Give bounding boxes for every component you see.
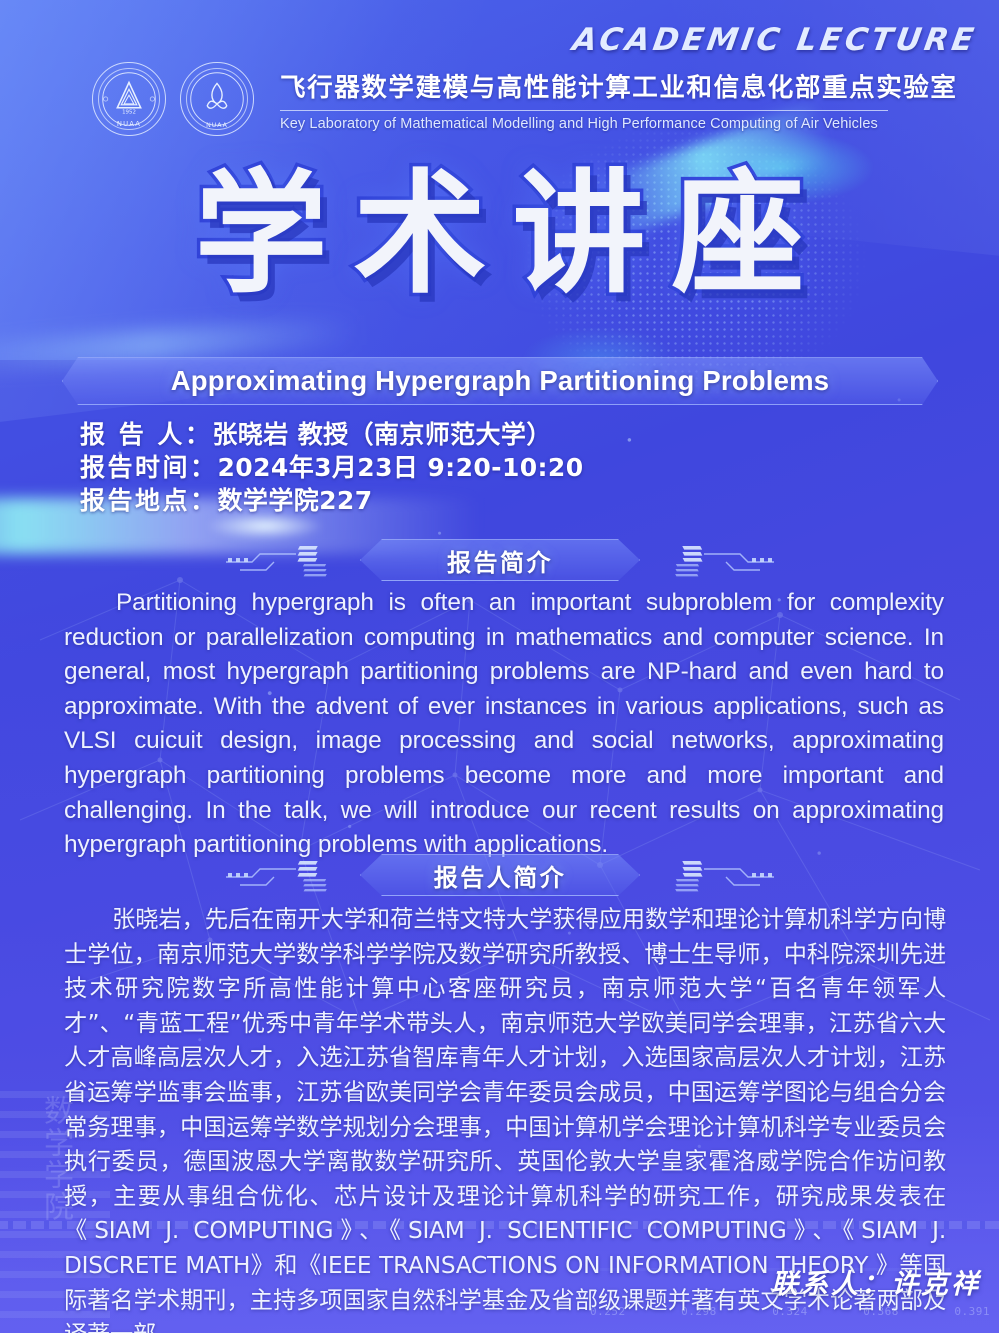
bio-heading: 报告人简介 (434, 858, 567, 893)
header-identity-block: 1952 NUAA NUAA 飞行器数学建模与高性能计算工业和信息化部重点实 (92, 62, 902, 154)
info-value-speaker: 张晓岩 教授（南京师范大学） (212, 418, 551, 451)
section-decor-right-icon (638, 853, 774, 897)
lecture-info-block: 报 告 人： 张晓岩 教授（南京师范大学） 报告时间： 2024年3月23日 9… (80, 418, 584, 517)
info-value-time: 2024年3月23日 9:20-10:20 (218, 451, 584, 484)
lab-name-english: Key Laboratory of Mathematical Modelling… (280, 116, 958, 132)
svg-text:1952: 1952 (122, 110, 136, 116)
lab-name-chinese: 飞行器数学建模与高性能计算工业和信息化部重点实验室 (280, 67, 958, 104)
abstract-section-header: 报告简介 (232, 538, 768, 582)
key-laboratory-seal-icon: NUAA (180, 62, 254, 136)
abstract-body: Partitioning hypergraph is often an impo… (64, 586, 944, 863)
lecture-title-text: Approximating Hypergraph Partitioning Pr… (171, 365, 830, 397)
svg-text:NUAA: NUAA (117, 120, 141, 128)
abstract-text: Partitioning hypergraph is often an impo… (64, 589, 944, 858)
header-divider (280, 110, 888, 111)
info-row-speaker: 报 告 人： 张晓岩 教授（南京师范大学） (80, 418, 584, 451)
abstract-heading: 报告简介 (447, 543, 553, 578)
contact-person: 联系人：许克祥 (771, 1262, 981, 1301)
academic-lecture-label: ACADEMIC LECTURE (570, 22, 979, 58)
svg-text:NUAA: NUAA (206, 122, 228, 129)
info-label-speaker: 报 告 人： (80, 418, 212, 451)
info-row-time: 报告时间： 2024年3月23日 9:20-10:20 (80, 451, 584, 484)
info-row-location: 报告地点： 数学学院227 (80, 484, 584, 517)
info-value-location: 数学学院227 (218, 484, 373, 517)
info-label-location: 报告地点： (80, 484, 218, 517)
footer-number: 0.391 (954, 1305, 990, 1318)
lecture-title-banner: Approximating Hypergraph Partitioning Pr… (62, 357, 938, 405)
page-title: 学术讲座 (0, 160, 999, 310)
section-decor-left-icon (226, 538, 362, 582)
bio-section-header: 报告人简介 (232, 853, 768, 897)
section-decor-left-icon (226, 853, 362, 897)
hero-section: 学术讲座 (0, 160, 999, 310)
info-label-time: 报告时间： (80, 451, 218, 484)
nuaa-university-seal-icon: 1952 NUAA (92, 62, 166, 136)
section-decor-right-icon (638, 538, 774, 582)
poster-root: 数学学院 ACADEMIC LECTURE 1952 NUAA (0, 0, 999, 1333)
